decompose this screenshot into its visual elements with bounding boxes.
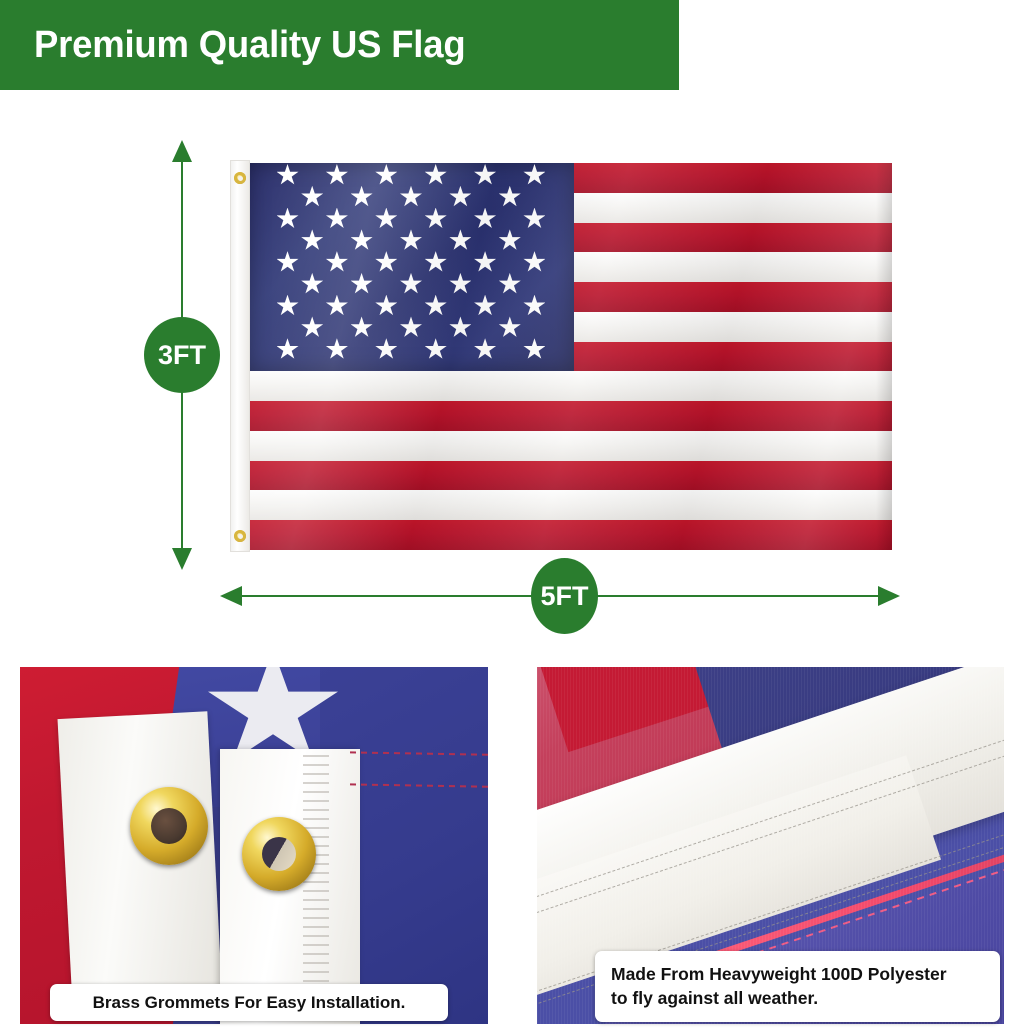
arrow-left-icon — [220, 586, 242, 606]
flag-star — [351, 316, 373, 338]
flag-star — [499, 316, 521, 338]
flag-stripe — [248, 490, 892, 520]
flag-star — [523, 251, 545, 273]
flag-star — [474, 164, 496, 186]
flag-star — [474, 251, 496, 273]
flag-star — [400, 186, 422, 208]
page-title: Premium Quality US Flag — [34, 24, 465, 67]
flag-star — [301, 186, 323, 208]
flag-star — [425, 208, 447, 230]
flag-hoist-band — [230, 160, 250, 552]
grommet-caption: Brass Grommets For Easy Installation. — [50, 984, 448, 1021]
arrow-right-icon — [878, 586, 900, 606]
flag-star — [499, 186, 521, 208]
flag-star — [375, 338, 397, 360]
flag-star — [400, 273, 422, 295]
flag-star — [400, 229, 422, 251]
grommet-detail-panel — [20, 667, 488, 1024]
flag-star — [523, 164, 545, 186]
infographic-canvas: Premium Quality US Flag 3FT 5FT — [0, 0, 1024, 1035]
flag-star — [523, 338, 545, 360]
flag-stripe — [248, 520, 892, 550]
flag-star — [277, 208, 299, 230]
grommet-icon-top — [234, 172, 246, 184]
height-dimension-badge: 3FT — [144, 317, 220, 393]
flag-star — [474, 295, 496, 317]
arrow-up-icon — [172, 140, 192, 162]
flag-star — [301, 316, 323, 338]
flag-star — [375, 295, 397, 317]
flag-star — [499, 229, 521, 251]
flag-star — [449, 186, 471, 208]
grommet-icon-bottom — [234, 530, 246, 542]
flag-body — [248, 163, 892, 550]
flag-star — [301, 273, 323, 295]
flag-star — [449, 316, 471, 338]
flag-star — [499, 273, 521, 295]
brass-grommet-left — [130, 787, 208, 865]
flag-star — [375, 164, 397, 186]
flag-star — [425, 338, 447, 360]
flag-star — [277, 251, 299, 273]
flag-star — [400, 316, 422, 338]
flag-star — [523, 208, 545, 230]
flag-stripe — [248, 461, 892, 491]
flag-star — [277, 295, 299, 317]
flag-star — [425, 295, 447, 317]
white-header-band-a — [58, 711, 223, 1008]
width-dimension-badge: 5FT — [531, 558, 598, 634]
flag-star — [474, 208, 496, 230]
flag-star — [351, 186, 373, 208]
flag-stripe — [248, 371, 892, 401]
flag-star — [351, 273, 373, 295]
flag-star — [277, 338, 299, 360]
flag-star — [326, 295, 348, 317]
flag-star — [474, 338, 496, 360]
flag-star — [326, 338, 348, 360]
flag-star — [351, 229, 373, 251]
arrow-down-icon — [172, 548, 192, 570]
flag-star — [449, 273, 471, 295]
flag-stripe — [248, 431, 892, 461]
flag-star — [375, 208, 397, 230]
polyester-caption-line-1: Made From Heavyweight 100D Polyester — [611, 963, 947, 986]
flag-star — [277, 164, 299, 186]
flag-star — [425, 164, 447, 186]
flag-star — [326, 164, 348, 186]
flag-star — [301, 229, 323, 251]
flag-star — [523, 295, 545, 317]
header-banner: Premium Quality US Flag — [0, 0, 679, 90]
flag-star — [375, 251, 397, 273]
flag-star — [425, 251, 447, 273]
flag-star — [326, 208, 348, 230]
brass-grommet-right — [242, 817, 316, 891]
polyester-caption-line-2: to fly against all weather. — [611, 987, 947, 1010]
flag-stripe — [248, 401, 892, 431]
flag-product-image — [230, 160, 892, 552]
flag-star — [449, 229, 471, 251]
flag-star — [326, 251, 348, 273]
flag-canton — [248, 163, 574, 371]
polyester-caption: Made From Heavyweight 100D Polyester to … — [595, 951, 1000, 1022]
